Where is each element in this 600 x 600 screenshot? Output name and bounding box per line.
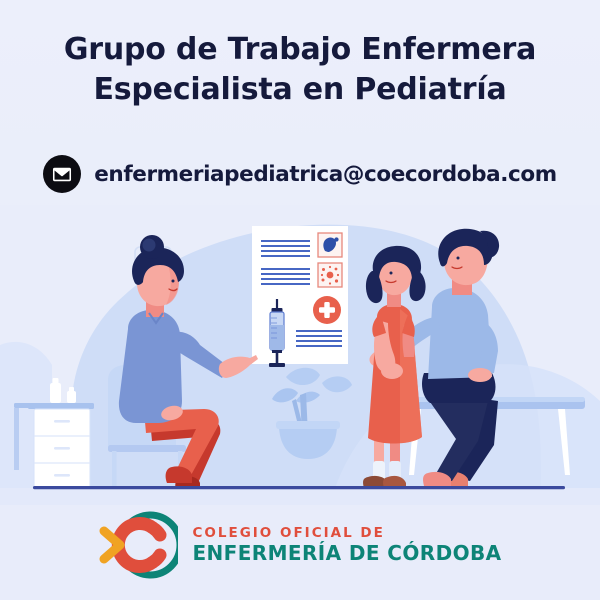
medical-cross-icon [313, 296, 341, 324]
page-title: Grupo de Trabajo Enfermera Especialista … [0, 30, 600, 110]
title-line-1: Grupo de Trabajo Enfermera [0, 30, 600, 70]
contact-email-row[interactable]: enfermeriapediatrica@coecordoba.com [0, 155, 600, 193]
title-line-2: Especialista en Pediatría [0, 70, 600, 110]
organization-logo: COLEGIO OFICIAL DE ENFERMERÍA DE CÓRDOBA [0, 505, 600, 585]
poster-canvas: Grupo de Trabajo Enfermera Especialista … [0, 0, 600, 600]
email-address[interactable]: enfermeriapediatrica@coecordoba.com [94, 162, 557, 187]
logo-line-1: COLEGIO OFICIAL DE [192, 527, 501, 541]
illustration [0, 205, 600, 505]
floor-line [33, 486, 565, 489]
logo-line-2: ENFERMERÍA DE CÓRDOBA [192, 543, 501, 563]
envelope-icon [43, 155, 81, 193]
wall-poster [252, 226, 348, 364]
logo-wordmark: COLEGIO OFICIAL DE ENFERMERÍA DE CÓRDOBA [192, 527, 501, 564]
coe-cordoba-logo-icon [98, 509, 178, 581]
